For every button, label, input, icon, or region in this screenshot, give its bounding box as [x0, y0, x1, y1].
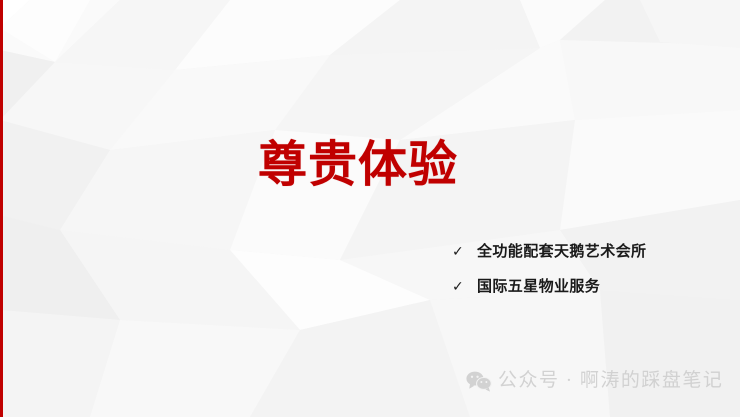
list-item-label: 国际五星物业服务 — [477, 277, 600, 297]
list-item: ✓ 全功能配套天鹅艺术会所 — [452, 242, 646, 277]
watermark: 公众号 · 啊涛的踩盘笔记 — [466, 369, 723, 393]
check-icon: ✓ — [452, 242, 477, 262]
low-poly-background — [0, 0, 740, 417]
presentation-slide: 尊贵体验 ✓ 全功能配套天鹅艺术会所 ✓ 国际五星物业服务 公众号 · 啊涛的踩… — [0, 0, 740, 417]
left-accent-bar — [0, 0, 3, 417]
list-item: ✓ 国际五星物业服务 — [452, 277, 646, 312]
watermark-text: 公众号 · 啊涛的踩盘笔记 — [498, 369, 723, 393]
slide-title: 尊贵体验 — [258, 134, 458, 196]
bullet-list: ✓ 全功能配套天鹅艺术会所 ✓ 国际五星物业服务 — [452, 242, 646, 312]
list-item-label: 全功能配套天鹅艺术会所 — [477, 242, 646, 262]
wechat-icon — [466, 370, 492, 392]
check-icon: ✓ — [452, 277, 477, 297]
